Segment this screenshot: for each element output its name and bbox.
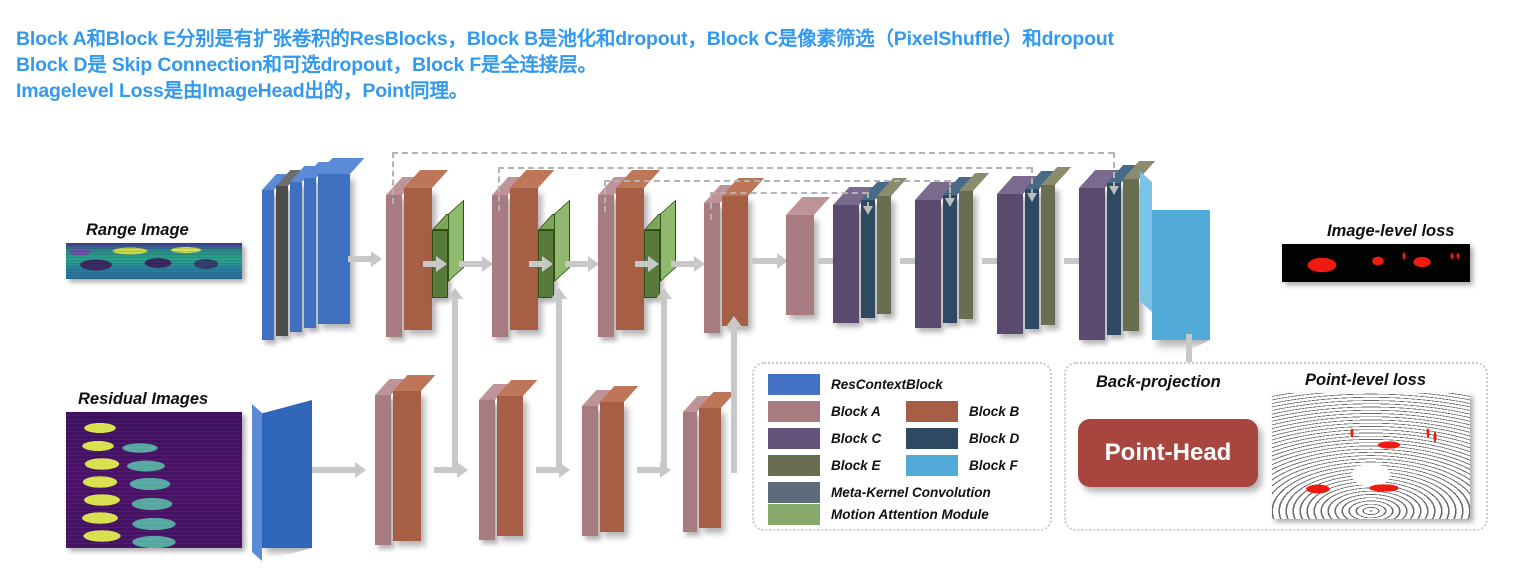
back-projection-label: Back-projection [1096, 373, 1221, 392]
flow-arrow-enc4-to-bottleneck [752, 258, 778, 264]
legend-item-block-f: Block F [906, 455, 1018, 476]
decoder-2-block-e [959, 191, 973, 319]
legend-label-block-f: Block F [969, 458, 1018, 473]
note-line-1: Block A和Block E分别是有扩张卷积的ResBlocks，Block … [16, 26, 1516, 52]
skip-2-down-left [498, 167, 500, 211]
legend-label-res-context-block: ResContextBlock [831, 377, 943, 392]
note-line-3: Imagelevel Loss是由ImageHead出的，Point同理。 [16, 78, 1516, 104]
residual-images-label: Residual Images [78, 390, 208, 409]
residual-3-block-a [582, 406, 598, 536]
residual-4-block-a [683, 412, 697, 532]
point-head-button[interactable]: Point-Head [1078, 419, 1258, 487]
legend-label-block-c: Block C [831, 431, 881, 446]
legend-item-block-c: Block C [768, 428, 881, 449]
skip-3-down-left [604, 180, 606, 212]
skip-1-down-right [1113, 152, 1115, 188]
encoder-2-block-b [510, 188, 538, 330]
skip-2-arrowhead [1027, 193, 1037, 202]
motion-feed-arrow-4 [731, 326, 737, 473]
legend-item-block-e: Block E [768, 455, 881, 476]
residual-2-block-b [497, 396, 523, 536]
residual-1-block-a [375, 395, 391, 545]
encoder-1-block-a [386, 195, 402, 337]
decoder-3-block-e [1041, 185, 1055, 325]
legend-item-block-b: Block B [906, 401, 1019, 422]
residual-res-context-block [262, 400, 312, 548]
encoder-2-block-a [492, 195, 508, 337]
motion-feed-arrow-1 [452, 298, 458, 473]
res-context-plate-1 [262, 190, 274, 340]
legend-panel: ResContextBlock Block A Block B Block C … [752, 362, 1052, 531]
flow-arrow-enc2-to-enc3 [565, 261, 589, 267]
decoder-4-block-d [1107, 183, 1121, 335]
flow-arrow-enc3-to-enc4 [671, 261, 695, 267]
legend-label-block-a: Block A [831, 404, 881, 419]
legend-swatch-block-c [768, 428, 820, 449]
skip-3-horizontal [604, 180, 950, 182]
residual-2-block-a [479, 400, 495, 540]
range-image-thumbnail [66, 243, 242, 279]
legend-label-block-b: Block B [969, 404, 1019, 419]
legend-swatch-motion-attention-module [768, 504, 820, 525]
decoder-3-block-c [997, 194, 1023, 334]
encoder-3-block-a [598, 195, 614, 337]
skip-1-arrowhead [1109, 186, 1119, 195]
skip-1-down-left [392, 152, 394, 204]
skip-4-horizontal [710, 192, 868, 194]
legend-item-block-d: Block D [906, 428, 1019, 449]
residual-images-thumbnail [66, 412, 242, 548]
image-level-loss-thumbnail [1282, 244, 1470, 282]
point-head-label: Point-Head [1105, 439, 1232, 467]
flow-arrow-enc1-to-enc2 [459, 261, 483, 267]
point-level-loss-label: Point-level loss [1305, 371, 1426, 390]
block-f-head [1152, 210, 1210, 340]
legend-item-motion-attention-module: Motion Attention Module [768, 504, 989, 525]
legend-label-block-e: Block E [831, 458, 881, 473]
legend-item-block-a: Block A [768, 401, 881, 422]
legend-swatch-block-a [768, 401, 820, 422]
range-image-label: Range Image [86, 221, 189, 240]
flow-arrow-r3-to-r4 [637, 467, 661, 473]
encoder-1-block-b [404, 188, 432, 330]
legend-swatch-block-d [906, 428, 958, 449]
meta-kernel-plate [276, 186, 288, 336]
decoder-1-block-d [861, 200, 875, 318]
skip-4-down-left [710, 192, 712, 220]
legend-swatch-block-e [768, 455, 820, 476]
skip-2-horizontal [498, 167, 1032, 169]
residual-3-block-b [600, 402, 624, 532]
header-note: Block A和Block E分别是有扩张卷积的ResBlocks，Block … [16, 26, 1516, 104]
res-context-plate-4 [318, 174, 350, 324]
note-line-2: Block D是 Skip Connection和可选dropout，Block… [16, 52, 1516, 78]
decoder-4-block-c [1079, 188, 1105, 340]
encoder-3-block-b [616, 188, 644, 330]
flow-arrow-enc3-inner [635, 261, 649, 267]
flow-arrow-input-to-enc1 [348, 256, 372, 262]
legend-item-res-context-block: ResContextBlock [768, 374, 943, 395]
decoder-4-block-e [1123, 179, 1139, 331]
legend-label-motion-attention-module: Motion Attention Module [831, 507, 989, 522]
legend-swatch-res-context-block [768, 374, 820, 395]
motion-feed-arrow-2 [556, 298, 562, 473]
residual-1-block-b [393, 391, 421, 541]
residual-4-block-b [699, 408, 721, 528]
bottleneck-block-a [786, 215, 814, 315]
decoder-1-block-e [877, 196, 891, 314]
legend-swatch-block-f [906, 455, 958, 476]
decoder-3-block-d [1025, 189, 1039, 329]
flow-arrow-enc2-inner [529, 261, 543, 267]
decoder-1-block-c [833, 205, 859, 323]
legend-label-block-d: Block D [969, 431, 1019, 446]
legend-label-meta-kernel-convolution: Meta-Kernel Convolution [831, 485, 991, 500]
image-level-loss-label: Image-level loss [1327, 222, 1454, 241]
legend-swatch-meta-kernel-convolution [768, 482, 820, 503]
decoder-2-block-d [943, 195, 957, 323]
skip-4-arrowhead [863, 206, 873, 215]
legend-item-meta-kernel-convolution: Meta-Kernel Convolution [768, 482, 991, 503]
skip-2-down-right [1031, 167, 1033, 195]
skip-3-down-right [949, 180, 951, 200]
skip-1-horizontal [392, 152, 1114, 154]
encoder-4-block-a [704, 203, 720, 333]
res-context-plate-2 [290, 182, 302, 332]
decoder-2-block-c [915, 200, 941, 328]
legend-swatch-block-b [906, 401, 958, 422]
flow-arrow-residual-input-to-r1 [312, 467, 356, 473]
res-context-plate-3 [304, 178, 316, 328]
skip-3-arrowhead [945, 198, 955, 207]
flow-arrow-enc1-inner [423, 261, 437, 267]
point-level-loss-thumbnail [1272, 393, 1470, 519]
encoder-4-block-b [722, 196, 748, 326]
motion-feed-arrow-3 [661, 298, 667, 473]
